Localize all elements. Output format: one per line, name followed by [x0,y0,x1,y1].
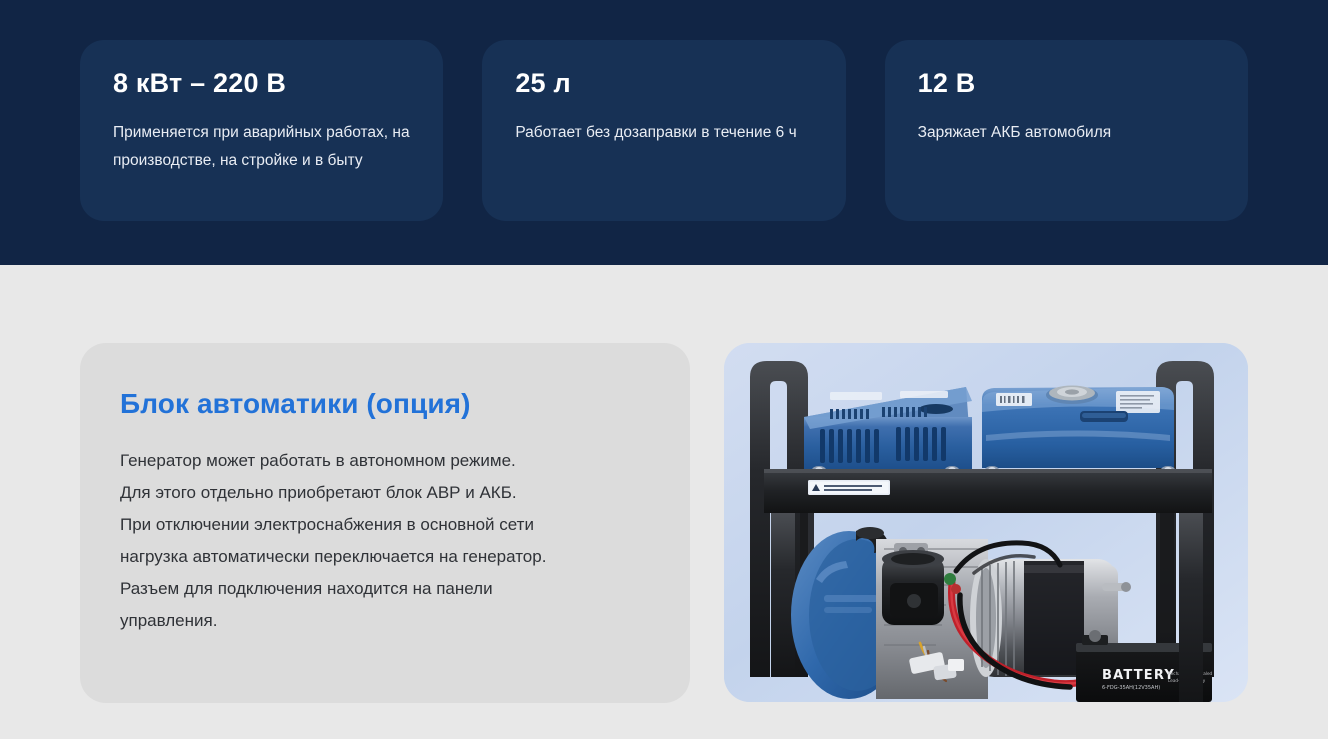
description-line: Разъем для подключения находится на пане… [120,573,650,605]
spec-description-line: Применяется при аварийных [113,124,322,141]
spec-description-line: Заряжает АКБ автомобиля [918,124,1111,141]
starter-motor [882,550,944,625]
spec-value: 8 кВт – 220 В [113,69,411,99]
frame-leg-left [771,513,795,677]
spec-card-power: 8 кВт – 220 В Применяется при аварийных … [80,40,443,221]
product-image-panel: BATTERY 6-FDG-35AH(12V35AH) Rechargeable… [724,343,1248,702]
spec-card-fuel-tank: 25 л Работает без дозаправки в течение 6… [482,40,845,221]
spec-card-battery-voltage: 12 В Заряжает АКБ автомобиля [885,40,1248,221]
spec-description: Заряжает АКБ автомобиля [918,119,1216,147]
spec-description: Работает без дозаправки в течение 6 ч [515,119,813,147]
automation-info-panel: Блок автоматики (опция) Генератор может … [80,343,690,703]
spec-description: Применяется при аварийных работах, на пр… [113,119,411,175]
generator-photo: BATTERY 6-FDG-35AH(12V35AH) Rechargeable… [724,343,1248,702]
automation-section: Блок автоматики (опция) Генератор может … [0,265,1328,739]
spec-card-list: 8 кВт – 220 В Применяется при аварийных … [80,40,1248,221]
spec-description-line: в течение 6 ч [701,124,796,141]
description-line: нагрузка автоматически переключается на … [120,541,650,573]
frame-warning-sticker [808,480,890,495]
description-line: управления. [120,605,650,637]
battery-sublabel: 6-FDG-35AH(12V35AH) [1102,685,1160,691]
spec-value: 12 В [918,69,1216,99]
description-line: Для этого отдельно приобретают блок АВР … [120,477,650,509]
spec-description-line: на стройке и в быту [220,152,363,169]
description-line: Генератор может работать в автономном ре… [120,445,650,477]
frame-leg-right-front [1179,513,1203,702]
automation-description: Генератор может работать в автономном ре… [120,445,650,637]
frame-brace-right [1160,513,1174,633]
page-title: Блок автоматики (опция) [120,387,650,421]
spec-value: 25 л [515,69,813,99]
spec-description-line: Работает без дозаправки [515,124,697,141]
battery-label: BATTERY [1102,668,1175,683]
description-line: При отключении электроснабжения в основн… [120,509,650,541]
fuel-tank [982,386,1175,475]
frame-deck-bar [764,469,1212,513]
spec-band: 8 кВт – 220 В Применяется при аварийных … [0,0,1328,265]
generator-illustration: BATTERY 6-FDG-35AH(12V35AH) Rechargeable… [724,343,1248,702]
